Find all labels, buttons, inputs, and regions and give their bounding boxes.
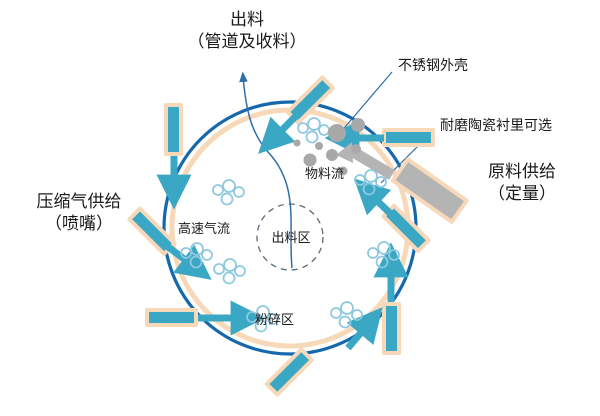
- callout-feed: 原料供给 （定量）: [452, 162, 592, 206]
- callout-outlet: 出料 （管道及收料）: [152, 10, 342, 54]
- feed-flow-arrowhead: [336, 142, 353, 163]
- particle-cluster-left-lower: [214, 259, 245, 284]
- label-discharge-zone: 出料区: [262, 231, 320, 248]
- nozzle-left-bottom[interactable]: [145, 308, 198, 327]
- nozzle-right-top[interactable]: [382, 128, 435, 147]
- callout-shell: 不锈钢外壳: [398, 58, 468, 76]
- jet-arrow-right-lower: [368, 192, 395, 218]
- callout-liner: 耐磨陶瓷衬里可选: [440, 118, 552, 136]
- label-high-speed-air: 高速气流: [178, 222, 230, 239]
- callout-air-supply: 压缩气供给 （喷嘴）: [4, 192, 154, 236]
- particle-cluster-material-flow: [298, 118, 329, 143]
- nozzle-right-bottom[interactable]: [382, 302, 401, 355]
- nozzle-top-left[interactable]: [164, 103, 183, 156]
- diagram-canvas: 出料 （管道及收料） 不锈钢外壳 耐磨陶瓷衬里可选 原料供给 （定量） 压缩气供…: [0, 0, 600, 416]
- label-grinding-zone: 粉碎区: [255, 313, 294, 330]
- particle-cluster-top-left: [213, 180, 244, 205]
- jet-arrow-top-right: [272, 112, 300, 140]
- label-material-flow: 物料流: [305, 167, 344, 184]
